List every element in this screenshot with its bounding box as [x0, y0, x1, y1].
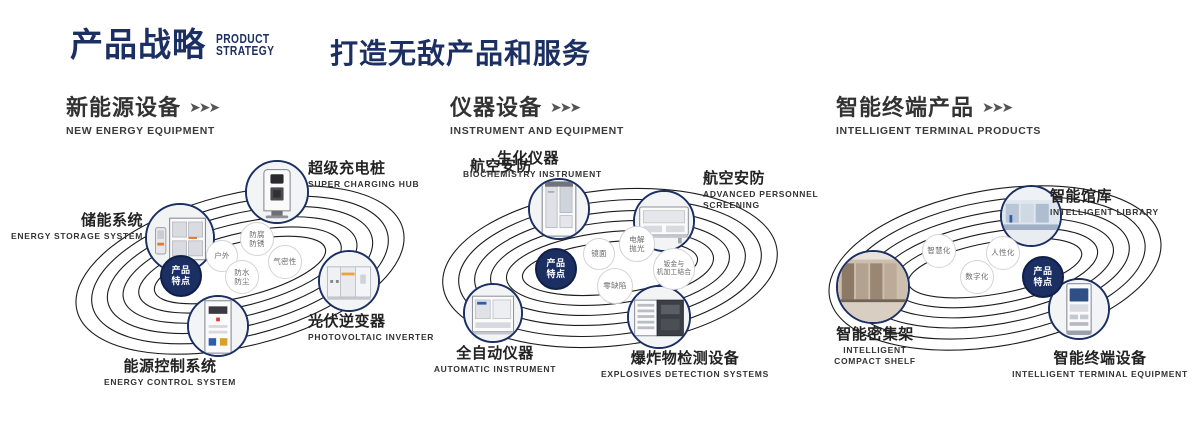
- title-en-line2: STRATEGY: [216, 45, 274, 57]
- chevrons-icon: ➤➤➤: [189, 100, 218, 115]
- poster-canvas: 产品战略 PRODUCT STRATEGY 打造无敌产品和服务 新能源设备➤➤➤…: [0, 0, 1200, 422]
- detection-rack-icon: [629, 287, 689, 347]
- page-title: 产品战略 PRODUCT STRATEGY: [70, 28, 287, 61]
- label-explosives-detection-systems: 爆炸物检测设备 EXPLOSIVES DETECTION SYSTEMS: [595, 350, 775, 380]
- panel-instrument: 航空安防 生化仪器 BIOCHEMISTRY INSTRUMENT 航空安防 A…: [415, 150, 815, 400]
- title-cn: 产品战略: [70, 28, 206, 61]
- label-energy-storage-system: 储能系统 ENERGY STORAGE SYSTEM: [0, 212, 143, 242]
- core-bubble-product-features: 产品 特点: [1022, 256, 1064, 298]
- section-header-new-energy: 新能源设备➤➤➤ NEW ENERGY EQUIPMENT: [66, 96, 218, 137]
- node-biochemistry-instrument[interactable]: [528, 178, 590, 240]
- section-title-en: NEW ENERGY EQUIPMENT: [66, 125, 218, 137]
- node-explosives-detection-systems[interactable]: [627, 285, 691, 349]
- section-title-en: INTELLIGENT TERMINAL PRODUCTS: [836, 125, 1041, 137]
- section-title-cn: 新能源设备➤➤➤: [66, 96, 218, 120]
- inverter-cabinet-icon: [320, 252, 378, 310]
- biochemistry-cabinet-icon: [530, 180, 588, 238]
- feature-bubble-waterproof: 防水 防尘: [225, 260, 259, 294]
- label-energy-control-system: 能源控制系统 ENERGY CONTROL SYSTEM: [90, 358, 250, 388]
- node-intelligent-compact-shelf[interactable]: [836, 250, 910, 324]
- section-title-cn: 智能终端产品➤➤➤: [836, 96, 1041, 120]
- feature-bubble-anticorrosion: 防腐 防锈: [240, 222, 274, 256]
- feature-bubble-sheetmetal-machining: 钣金与 机加工结合: [653, 248, 695, 290]
- feature-bubble-mirror-finish: 镜面: [583, 238, 615, 270]
- node-energy-control-system[interactable]: [187, 295, 249, 357]
- feature-bubble-humanized: 人性化: [986, 236, 1020, 270]
- node-super-charging-hub[interactable]: [245, 160, 309, 224]
- section-title-cn: 仪器设备➤➤➤: [450, 96, 624, 120]
- automatic-analyzer-icon: [465, 285, 521, 341]
- feature-bubble-zero-defect: 零缺陷: [597, 268, 633, 304]
- node-automatic-instrument[interactable]: [463, 283, 523, 343]
- section-header-intelligent-terminal: 智能终端产品➤➤➤ INTELLIGENT TERMINAL PRODUCTS: [836, 96, 1041, 137]
- label-automatic-instrument: 全自动仪器 AUTOMATIC INSTRUMENT: [410, 345, 580, 375]
- feature-bubble-smart: 智慧化: [922, 234, 956, 268]
- compact-shelf-icon: [838, 252, 908, 322]
- core-bubble-product-features: 产品 特点: [160, 255, 202, 297]
- feature-bubble-digital: 数字化: [960, 260, 994, 294]
- charging-pile-icon: [247, 162, 307, 222]
- title-en: PRODUCT STRATEGY: [216, 33, 274, 57]
- panel-new-energy: 储能系统 ENERGY STORAGE SYSTEM 超级充电桩 SUPER C…: [40, 150, 440, 400]
- label-intelligent-compact-shelf: 智能密集架 INTELLIGENT COMPACT SHELF: [820, 326, 930, 367]
- core-bubble-product-features: 产品 特点: [535, 248, 577, 290]
- feature-bubble-airtightness: 气密性: [268, 245, 302, 279]
- chevrons-icon: ➤➤➤: [982, 100, 1011, 115]
- chevrons-icon: ➤➤➤: [550, 100, 579, 115]
- control-cabinet-icon: [189, 297, 247, 355]
- panel-intelligent-terminal: 智能馆库 INTELLIGENT LIBRARY 智能密集架 INTELLIGE…: [800, 150, 1200, 400]
- feature-bubble-electropolishing: 电解 抛光: [619, 226, 655, 262]
- label-intelligent-library: 智能馆库 INTELLIGENT LIBRARY: [1050, 188, 1200, 218]
- label-biochemistry-instrument: 生化仪器 BIOCHEMISTRY INSTRUMENT: [463, 150, 593, 180]
- label-intelligent-terminal-equipment: 智能终端设备 INTELLIGENT TERMINAL EQUIPMENT: [1000, 350, 1200, 380]
- node-photovoltaic-inverter[interactable]: [318, 250, 380, 312]
- section-title-en: INSTRUMENT AND EQUIPMENT: [450, 125, 624, 137]
- section-header-instrument: 仪器设备➤➤➤ INSTRUMENT AND EQUIPMENT: [450, 96, 624, 137]
- page-subtitle: 打造无敌产品和服务: [330, 32, 591, 72]
